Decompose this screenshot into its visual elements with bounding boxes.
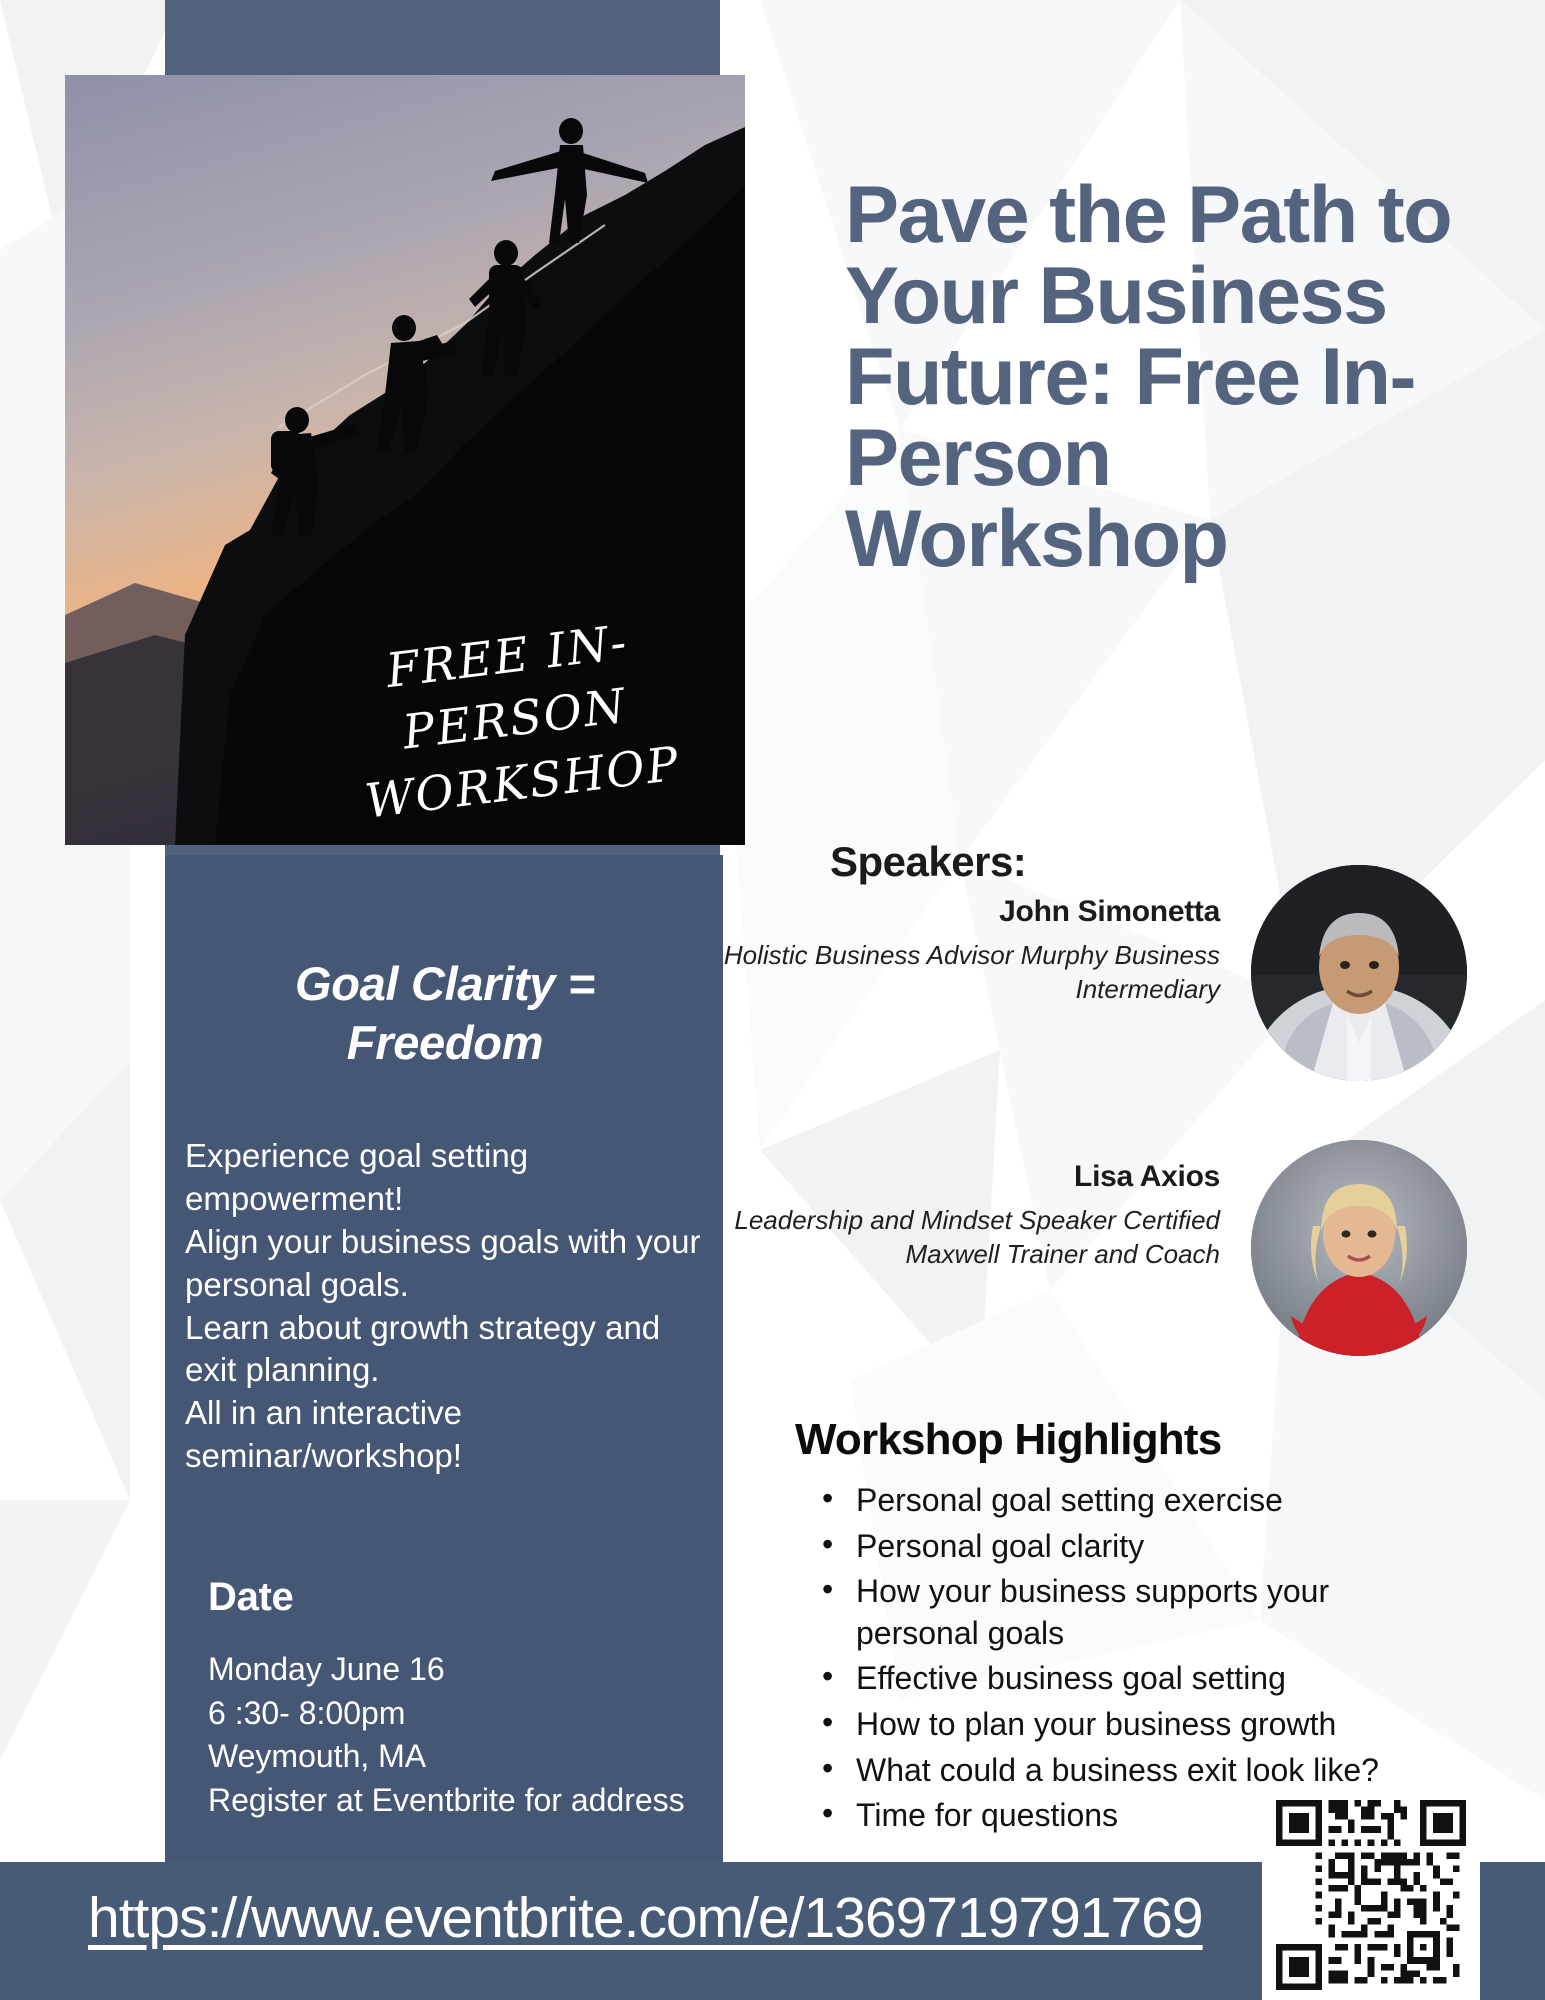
speaker-role-1: Leadership and Mindset Speaker Certified… (680, 1204, 1220, 1272)
list-item: What could a business exit look like? (810, 1750, 1430, 1792)
speaker-block-0: John Simonetta Holistic Business Advisor… (700, 895, 1220, 1007)
workshop-highlights-title: Workshop Highlights (795, 1415, 1221, 1465)
panel-description: Experience goal setting empowerment! Ali… (185, 1135, 705, 1478)
list-item: How to plan your business growth (810, 1704, 1430, 1746)
speaker-name-1: Lisa Axios (680, 1160, 1220, 1194)
eventbrite-qr-code[interactable] (1262, 1790, 1480, 2000)
workshop-highlights-list: Personal goal setting exercise Personal … (810, 1480, 1430, 1841)
list-item: Personal goal setting exercise (810, 1480, 1430, 1522)
panel-tagline: Goal Clarity = Freedom (195, 955, 695, 1073)
date-heading: Date (208, 1575, 294, 1620)
speaker-avatar-0 (1251, 865, 1467, 1081)
list-item: Personal goal clarity (810, 1526, 1430, 1568)
speaker-avatar-1 (1251, 1140, 1467, 1356)
list-item: Effective business goal setting (810, 1658, 1430, 1700)
registration-url-link[interactable]: https://www.eventbrite.com/e/13697197917… (88, 1885, 1203, 1951)
speaker-block-1: Lisa Axios Leadership and Mindset Speake… (680, 1160, 1220, 1272)
speaker-name-0: John Simonetta (700, 895, 1220, 929)
speakers-label: Speakers: (830, 838, 1026, 886)
date-details: Monday June 16 6 :30- 8:00pm Weymouth, M… (208, 1648, 688, 1822)
speaker-role-0: Holistic Business Advisor Murphy Busines… (700, 939, 1220, 1007)
list-item: How your business supports your personal… (810, 1571, 1430, 1654)
page-title: Pave the Path to Your Business Future: F… (845, 175, 1455, 580)
